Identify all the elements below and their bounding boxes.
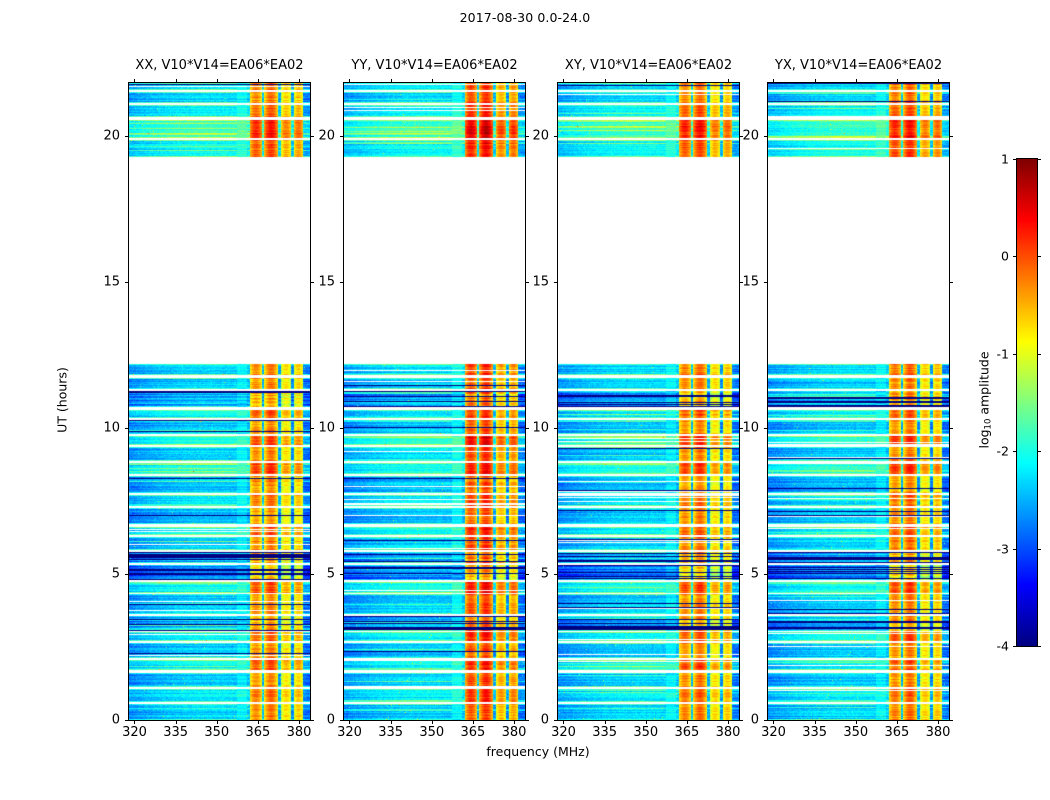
x-tick-mark-top — [473, 79, 474, 83]
x-tick-label: 320 — [337, 725, 362, 740]
colorbar-tick-mark-right — [1037, 256, 1041, 257]
x-tick-mark-top — [299, 79, 300, 83]
y-tick-mark — [340, 574, 344, 575]
x-tick-mark — [815, 720, 816, 724]
x-tick-mark-top — [349, 79, 350, 83]
y-tick-mark — [554, 282, 558, 283]
x-tick-mark-top — [773, 79, 774, 83]
x-tick-mark — [897, 720, 898, 724]
y-tick-label: 10 — [742, 420, 759, 435]
x-tick-label: 335 — [378, 725, 403, 740]
y-tick-mark-right — [310, 720, 314, 721]
x-tick-mark-top — [563, 79, 564, 83]
figure-canvas: 2017-08-30 0.0-24.0 XX, V10*V14=EA06*EA0… — [0, 0, 1050, 800]
x-tick-label: 365 — [674, 725, 699, 740]
x-tick-mark-top — [938, 79, 939, 83]
x-tick-mark — [563, 720, 564, 724]
y-tick-mark-right — [310, 282, 314, 283]
colorbar-tick-mark-right — [1037, 549, 1041, 550]
y-tick-mark — [125, 282, 129, 283]
y-tick-label: 10 — [103, 420, 120, 435]
x-tick-mark-top — [728, 79, 729, 83]
y-tick-mark — [764, 136, 768, 137]
y-tick-label: 0 — [327, 713, 335, 728]
y-tick-label: 5 — [112, 566, 120, 581]
panel-xx[interactable]: XX, V10*V14=EA06*EA02 320335350365380051… — [128, 82, 311, 721]
y-tick-label: 10 — [318, 420, 335, 435]
colorbar-tick-mark — [1013, 451, 1017, 452]
y-tick-mark-right — [739, 720, 743, 721]
x-tick-mark — [473, 720, 474, 724]
x-tick-mark — [605, 720, 606, 724]
y-tick-mark-right — [310, 136, 314, 137]
y-tick-label: 15 — [532, 274, 549, 289]
spectrogram-image-yx — [768, 83, 949, 720]
y-tick-label: 5 — [327, 566, 335, 581]
x-tick-label: 350 — [843, 725, 868, 740]
x-tick-mark-top — [176, 79, 177, 83]
y-tick-label: 5 — [751, 566, 759, 581]
colorbar-gradient — [1017, 159, 1037, 646]
y-tick-mark-right — [525, 282, 529, 283]
colorbar-tick-label: -4 — [997, 639, 1009, 654]
x-tick-mark-top — [687, 79, 688, 83]
y-tick-mark-right — [949, 136, 953, 137]
x-tick-mark — [687, 720, 688, 724]
x-tick-mark-top — [432, 79, 433, 83]
x-tick-label: 350 — [204, 725, 229, 740]
colorbar-tick-mark — [1013, 354, 1017, 355]
y-tick-mark-right — [949, 720, 953, 721]
y-tick-mark — [125, 574, 129, 575]
colorbar-tick-mark — [1013, 159, 1017, 160]
x-tick-label: 380 — [716, 725, 741, 740]
x-tick-mark — [391, 720, 392, 724]
x-tick-label: 365 — [884, 725, 909, 740]
x-tick-label: 320 — [551, 725, 576, 740]
y-tick-mark-right — [949, 428, 953, 429]
colorbar-tick-mark — [1013, 256, 1017, 257]
y-tick-mark-right — [949, 574, 953, 575]
y-tick-label: 15 — [742, 274, 759, 289]
x-tick-mark — [728, 720, 729, 724]
colorbar-label: log10 amplitude — [977, 351, 994, 448]
x-tick-mark-top — [605, 79, 606, 83]
colorbar-tick-mark — [1013, 646, 1017, 647]
colorbar-tick-label: 0 — [1001, 249, 1009, 264]
y-tick-mark-right — [525, 574, 529, 575]
y-tick-mark — [554, 574, 558, 575]
panel-yy[interactable]: YY, V10*V14=EA06*EA02 320335350365380051… — [343, 82, 526, 721]
x-tick-mark — [176, 720, 177, 724]
x-tick-mark — [217, 720, 218, 724]
y-tick-mark — [340, 720, 344, 721]
x-tick-mark-top — [391, 79, 392, 83]
y-tick-mark — [340, 282, 344, 283]
colorbar-tick-mark-right — [1037, 646, 1041, 647]
y-tick-label: 5 — [541, 566, 549, 581]
x-tick-mark-top — [217, 79, 218, 83]
x-tick-label: 335 — [592, 725, 617, 740]
x-tick-mark — [773, 720, 774, 724]
colorbar-tick-mark-right — [1037, 159, 1041, 160]
y-tick-label: 15 — [318, 274, 335, 289]
y-tick-label: 0 — [541, 713, 549, 728]
x-tick-label: 365 — [245, 725, 270, 740]
colorbar-tick-mark-right — [1037, 354, 1041, 355]
x-tick-mark-top — [134, 79, 135, 83]
x-tick-mark — [349, 720, 350, 724]
x-tick-mark — [299, 720, 300, 724]
y-tick-mark-right — [949, 282, 953, 283]
colorbar-tick-label: 1 — [1001, 152, 1009, 167]
x-tick-label: 350 — [419, 725, 444, 740]
y-tick-label: 20 — [103, 128, 120, 143]
y-tick-mark-right — [739, 574, 743, 575]
x-tick-label: 350 — [633, 725, 658, 740]
y-tick-mark-right — [525, 720, 529, 721]
x-tick-label: 335 — [802, 725, 827, 740]
y-tick-label: 15 — [103, 274, 120, 289]
colorbar-label-subscript: 10 — [983, 419, 993, 430]
y-tick-mark — [125, 428, 129, 429]
y-tick-label: 10 — [532, 420, 549, 435]
y-tick-mark-right — [525, 428, 529, 429]
x-tick-mark-top — [258, 79, 259, 83]
x-tick-mark — [938, 720, 939, 724]
y-tick-mark-right — [310, 428, 314, 429]
x-axis-label: frequency (MHz) — [128, 744, 948, 759]
figure-suptitle: 2017-08-30 0.0-24.0 — [0, 10, 1050, 25]
y-tick-mark-right — [310, 574, 314, 575]
y-axis-label: UT (hours) — [55, 367, 70, 433]
colorbar-label-prefix: log — [977, 429, 992, 448]
panel-title-xy: XY, V10*V14=EA06*EA02 — [565, 58, 732, 73]
colorbar-tick-label: -2 — [997, 444, 1009, 459]
colorbar-tick-label: -1 — [997, 346, 1009, 361]
x-tick-mark-top — [897, 79, 898, 83]
y-tick-mark — [764, 720, 768, 721]
x-tick-mark-top — [856, 79, 857, 83]
y-tick-mark — [764, 574, 768, 575]
x-tick-mark — [856, 720, 857, 724]
x-tick-mark-top — [646, 79, 647, 83]
panel-title-yy: YY, V10*V14=EA06*EA02 — [351, 58, 517, 73]
x-tick-mark — [646, 720, 647, 724]
panel-xy[interactable]: XY, V10*V14=EA06*EA02 320335350365380051… — [557, 82, 740, 721]
y-tick-mark — [764, 282, 768, 283]
y-tick-label: 0 — [751, 713, 759, 728]
x-tick-label: 365 — [460, 725, 485, 740]
x-tick-mark — [134, 720, 135, 724]
y-tick-mark — [554, 136, 558, 137]
x-tick-label: 380 — [926, 725, 951, 740]
y-tick-mark — [125, 136, 129, 137]
spectrogram-image-xy — [558, 83, 739, 720]
y-tick-mark — [125, 720, 129, 721]
y-tick-mark — [764, 428, 768, 429]
y-tick-mark-right — [525, 136, 529, 137]
x-tick-mark-top — [815, 79, 816, 83]
y-tick-mark — [340, 428, 344, 429]
spectrogram-image-yy — [344, 83, 525, 720]
y-tick-label: 0 — [112, 713, 120, 728]
panel-title-xx: XX, V10*V14=EA06*EA02 — [135, 58, 303, 73]
x-tick-label: 380 — [502, 725, 527, 740]
y-tick-mark — [340, 136, 344, 137]
x-tick-mark — [432, 720, 433, 724]
x-tick-mark-top — [514, 79, 515, 83]
x-tick-label: 320 — [761, 725, 786, 740]
x-tick-mark — [514, 720, 515, 724]
y-tick-mark — [554, 428, 558, 429]
y-tick-label: 20 — [532, 128, 549, 143]
y-tick-mark — [554, 720, 558, 721]
colorbar[interactable]: 10-1-2-3-4 — [1016, 158, 1038, 647]
colorbar-tick-mark-right — [1037, 451, 1041, 452]
y-tick-label: 20 — [742, 128, 759, 143]
colorbar-tick-label: -3 — [997, 541, 1009, 556]
x-tick-label: 320 — [122, 725, 147, 740]
x-tick-label: 335 — [163, 725, 188, 740]
panel-title-yx: YX, V10*V14=EA06*EA02 — [775, 58, 942, 73]
spectrogram-image-xx — [129, 83, 310, 720]
x-tick-label: 380 — [287, 725, 312, 740]
panel-yx[interactable]: YX, V10*V14=EA06*EA02 320335350365380051… — [767, 82, 950, 721]
colorbar-label-suffix: amplitude — [977, 351, 992, 418]
x-tick-mark — [258, 720, 259, 724]
colorbar-tick-mark — [1013, 549, 1017, 550]
y-tick-label: 20 — [318, 128, 335, 143]
